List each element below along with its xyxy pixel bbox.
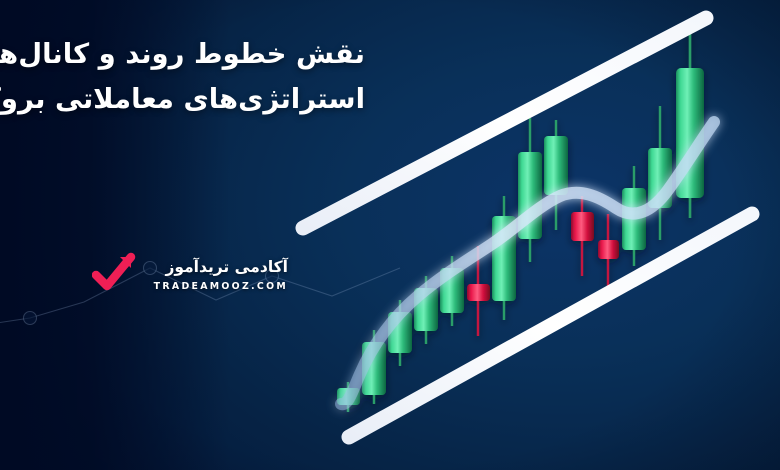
candle-up [544,120,568,230]
brand-logo[interactable]: آکادمی تریدآموز TRADEAMOOZ.COM [118,258,288,304]
logo-name-fa: آکادمی تریدآموز [165,258,288,276]
banner-canvas: نقش خطوط روند و کانال‌ها در استراتژی‌های… [0,0,780,470]
page-title: نقش خطوط روند و کانال‌ها در استراتژی‌های… [35,32,365,121]
title-line-2: استراتژی‌های معاملاتی بروکس [35,77,365,122]
logo-domain: TRADEAMOOZ.COM [154,281,288,292]
candle-up [648,106,672,240]
candle-up [676,22,704,218]
title-line-1: نقش خطوط روند و کانال‌ها در [35,32,365,77]
candle-down [571,196,594,276]
check-arrow-icon [92,251,136,295]
candle-up [518,118,542,262]
candle-up [492,196,516,320]
candle-down [598,214,619,288]
